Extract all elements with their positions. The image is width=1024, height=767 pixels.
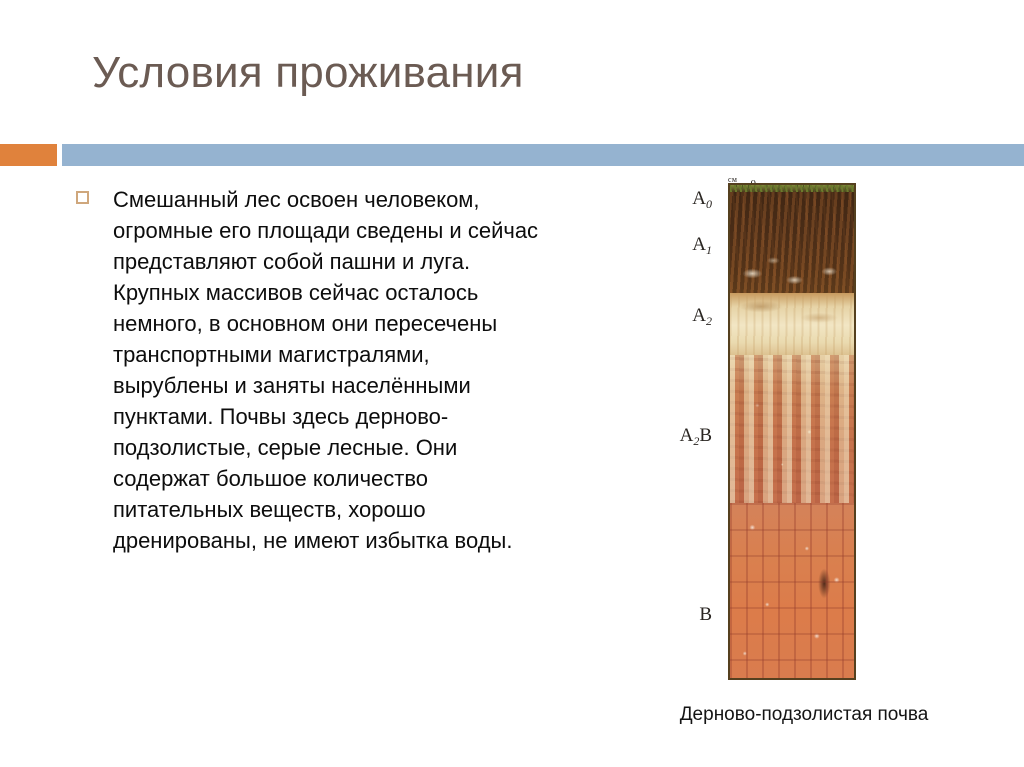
soil-profile-figure: A0 A1 A2 A2B B см 0 10 20 30 40 50 60 70…	[656, 176, 956, 736]
hollow-square-bullet-icon	[76, 191, 89, 204]
soil-layer-transition	[730, 355, 854, 503]
soil-surface-vegetation	[730, 185, 854, 192]
divider-accent-block	[0, 144, 57, 166]
horizon-letter: A	[680, 425, 694, 446]
soil-layer-podzolic	[730, 293, 854, 355]
content-bullet-item: Смешанный лес освоен человеком, огромные…	[76, 184, 546, 556]
soil-layer-illuvial	[730, 503, 854, 678]
bullet-paragraph: Смешанный лес освоен человеком, огромные…	[113, 184, 546, 556]
title-divider	[0, 144, 1024, 166]
horizon-subscript: 2	[693, 434, 699, 448]
soil-profile-photo	[728, 183, 856, 680]
soil-layer-humus	[730, 185, 854, 293]
page-title: Условия проживания	[92, 50, 524, 96]
figure-caption: Дерново-подзолистая почва	[594, 704, 1014, 726]
divider-rule-bar	[62, 144, 1024, 166]
